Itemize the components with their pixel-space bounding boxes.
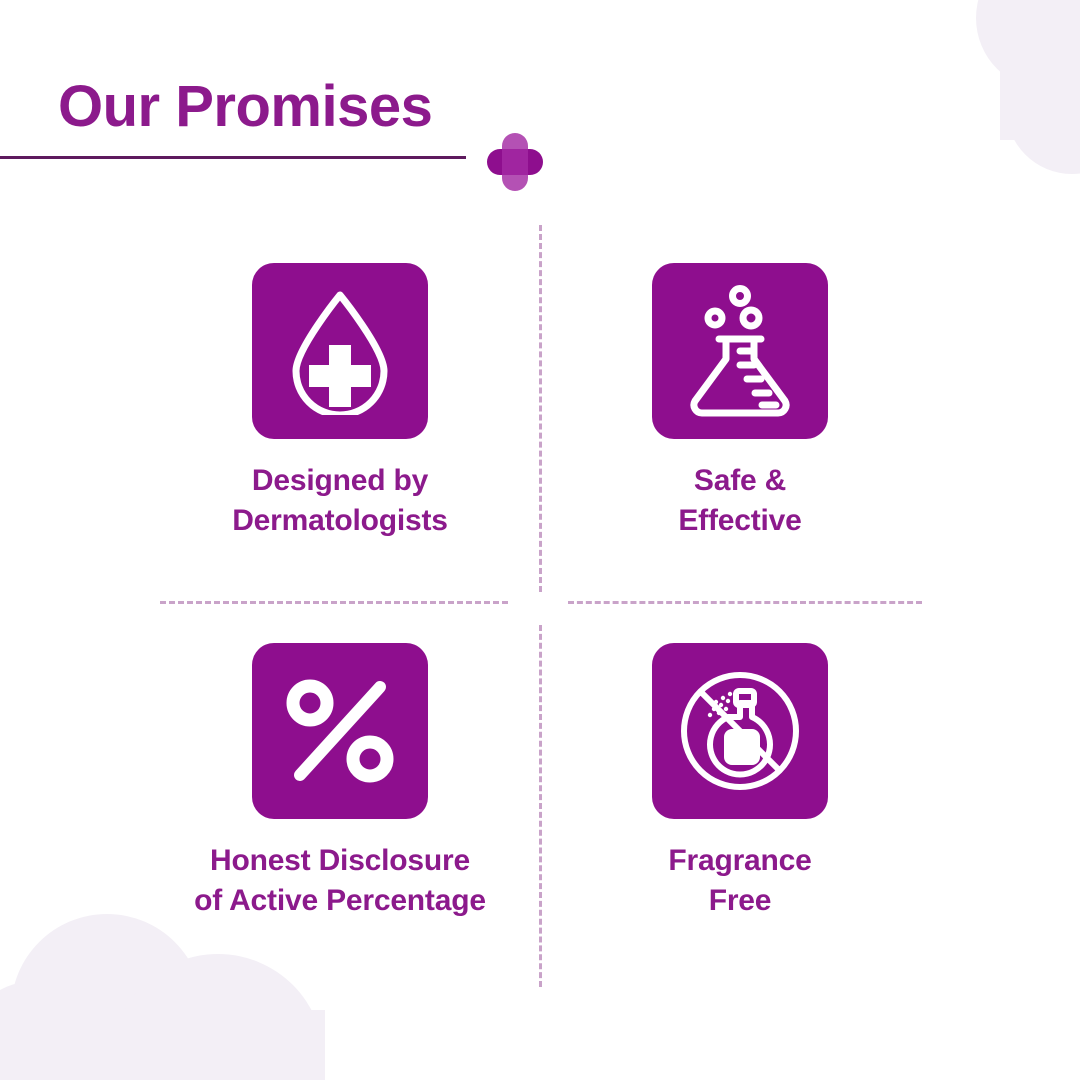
page-title: Our Promises xyxy=(58,78,432,136)
promise-label-1: Safe & Effective xyxy=(678,461,801,540)
promise-card-fragrance-free[interactable]: Fragrance Free xyxy=(530,643,950,920)
promise-label-0: Designed by Dermatologists xyxy=(232,461,448,540)
percent-icon xyxy=(284,677,396,785)
icon-tile-lab-flask xyxy=(652,263,828,439)
flask-bubble-left xyxy=(708,311,722,325)
perfume-bottle-cap xyxy=(736,691,754,705)
blob-top-right-a xyxy=(976,0,1080,90)
percent-lower-circle xyxy=(353,742,387,776)
promise-label-3: Fragrance Free xyxy=(668,841,811,920)
flask-bubble-top xyxy=(733,289,748,304)
blob-bottom-left-c xyxy=(0,1010,325,1080)
icon-tile-no-fragrance xyxy=(652,643,828,819)
title-underline-rule xyxy=(0,156,466,159)
promise-card-designed-by-dermatologists[interactable]: Designed by Dermatologists xyxy=(130,263,550,540)
icon-tile-percent xyxy=(252,643,428,819)
divider-horizontal-right xyxy=(568,601,922,604)
water-drop-plus-icon xyxy=(282,287,398,415)
plus-cross-vertical-bar xyxy=(502,133,528,191)
promise-grid: Designed by Dermatologists xyxy=(0,215,1080,1015)
percent-upper-circle xyxy=(293,686,327,720)
plus-sign-solid xyxy=(309,345,371,407)
blob-top-right-b xyxy=(1006,42,1080,174)
percent-slash xyxy=(300,687,380,775)
plus-cross-icon xyxy=(487,133,543,191)
divider-horizontal-left xyxy=(160,601,508,604)
no-fragrance-icon xyxy=(676,667,804,795)
icon-tile-water-drop-plus xyxy=(252,263,428,439)
blob-top-right-c xyxy=(1000,0,1080,140)
lab-flask-icon xyxy=(679,285,801,417)
promise-card-honest-disclosure[interactable]: Honest Disclosure of Active Percentage xyxy=(130,643,550,920)
promise-label-2: Honest Disclosure of Active Percentage xyxy=(194,841,486,920)
promise-card-safe-and-effective[interactable]: Safe & Effective xyxy=(530,263,950,540)
flask-bubble-right xyxy=(743,310,759,326)
